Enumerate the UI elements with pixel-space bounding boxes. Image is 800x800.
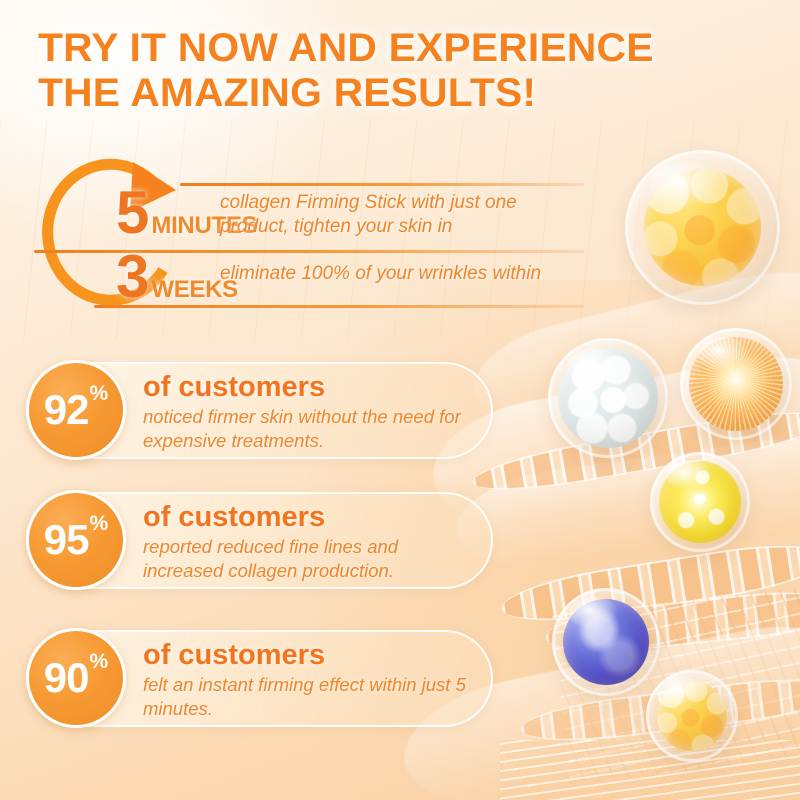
divider-line [94,305,584,308]
stat-percent-number: 90 [44,657,89,699]
collagen-strand-texture [500,740,800,800]
sphere-highlight [567,348,622,384]
stat-description: noticed firmer skin without the need for… [143,405,473,452]
radiant-orange-sphere [680,328,792,440]
time-promise-panel: 5 MINUTES collagen Firming Stick with ju… [24,150,594,315]
stat-title: of customers [143,372,473,403]
sphere-highlight [661,677,703,705]
stat-body: of customers reported reduced fine lines… [143,502,473,583]
stat-title: of customers [143,640,473,671]
stat-title: of customers [143,502,473,533]
headline-line-1: TRY IT NOW AND EXPERIENCE [38,26,654,70]
stat-percent-number: 95 [44,519,89,561]
sphere-highlight [698,337,750,371]
stat-percent-badge: 92 % [26,360,126,460]
yellow-molecule-sphere [650,452,750,552]
percent-sign-icon: % [90,383,109,404]
stat-card: 95 % of customers reported reduced fine … [28,492,493,589]
stat-percent-badge: 95 % [26,490,126,590]
stat-body: of customers noticed firmer skin without… [143,372,473,453]
percent-sign-icon: % [90,651,109,672]
stat-percent-number: 92 [44,389,89,431]
headline: TRY IT NOW AND EXPERIENCE THE AMAZING RE… [38,26,783,116]
sphere-highlight [650,162,721,209]
sphere-highlight [666,460,712,490]
silver-bubble-cluster-sphere [548,338,668,458]
violet-sphere [552,588,660,696]
stat-percent-badge: 90 % [26,628,126,728]
stat-body: of customers felt an instant firming eff… [143,640,473,721]
sphere-highlight [569,597,619,629]
headline-line-2: THE AMAZING RESULTS! [38,71,783,116]
stat-card: 90 % of customers felt an instant firmin… [28,630,493,727]
honeycomb-large-sphere [625,150,780,305]
stat-card: 92 % of customers noticed firmer skin wi… [28,362,493,459]
stat-description: reported reduced fine lines and increase… [143,535,473,582]
time-number: 3 [116,250,149,304]
promo-poster: TRY IT NOW AND EXPERIENCE THE AMAZING RE… [0,0,800,800]
honeycomb-small-sphere [646,670,738,762]
time-copy-weeks: eliminate 100% of your wrinkles within [220,262,600,286]
time-number: 5 [116,186,149,240]
time-copy-minutes: collagen Firming Stick with just one pro… [220,191,590,240]
percent-sign-icon: % [90,513,109,534]
stat-description: felt an instant firming effect within ju… [143,673,473,720]
